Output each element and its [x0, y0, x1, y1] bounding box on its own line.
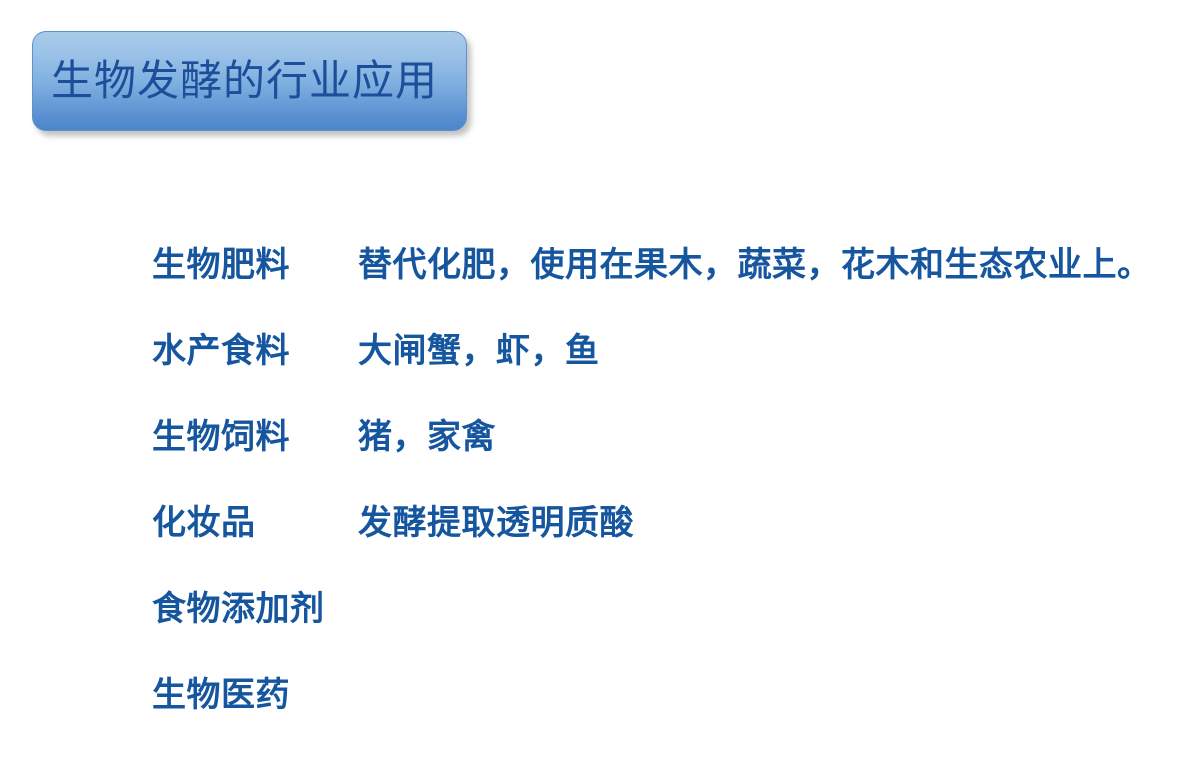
list-item: 生物肥料 替代化肥，使用在果木，蔬菜，花木和生态农业上。: [152, 245, 1192, 331]
list-item-description: 猪，家禽: [358, 417, 496, 457]
list-item-label: 食物添加剂: [152, 589, 358, 629]
list-item-label: 生物饲料: [152, 417, 358, 457]
list-item: 生物饲料 猪，家禽: [152, 417, 1192, 503]
list-item-description: 替代化肥，使用在果木，蔬菜，花木和生态农业上。: [358, 245, 1152, 285]
slide-title-plaque: 生物发酵的行业应用: [32, 31, 467, 131]
application-list: 生物肥料 替代化肥，使用在果木，蔬菜，花木和生态农业上。 水产食料 大闸蟹，虾，…: [152, 245, 1192, 761]
list-item: 化妆品 发酵提取透明质酸: [152, 503, 1192, 589]
list-item: 生物医药: [152, 675, 1192, 761]
list-item-label: 生物医药: [152, 675, 358, 715]
list-item-label: 化妆品: [152, 503, 358, 543]
list-item-label: 生物肥料: [152, 245, 358, 285]
list-item-description: 发酵提取透明质酸: [358, 503, 634, 543]
list-item: 水产食料 大闸蟹，虾，鱼: [152, 331, 1192, 417]
list-item-label: 水产食料: [152, 331, 358, 371]
list-item-description: 大闸蟹，虾，鱼: [358, 331, 600, 371]
list-item: 食物添加剂: [152, 589, 1192, 675]
page-title: 生物发酵的行业应用: [51, 60, 438, 102]
